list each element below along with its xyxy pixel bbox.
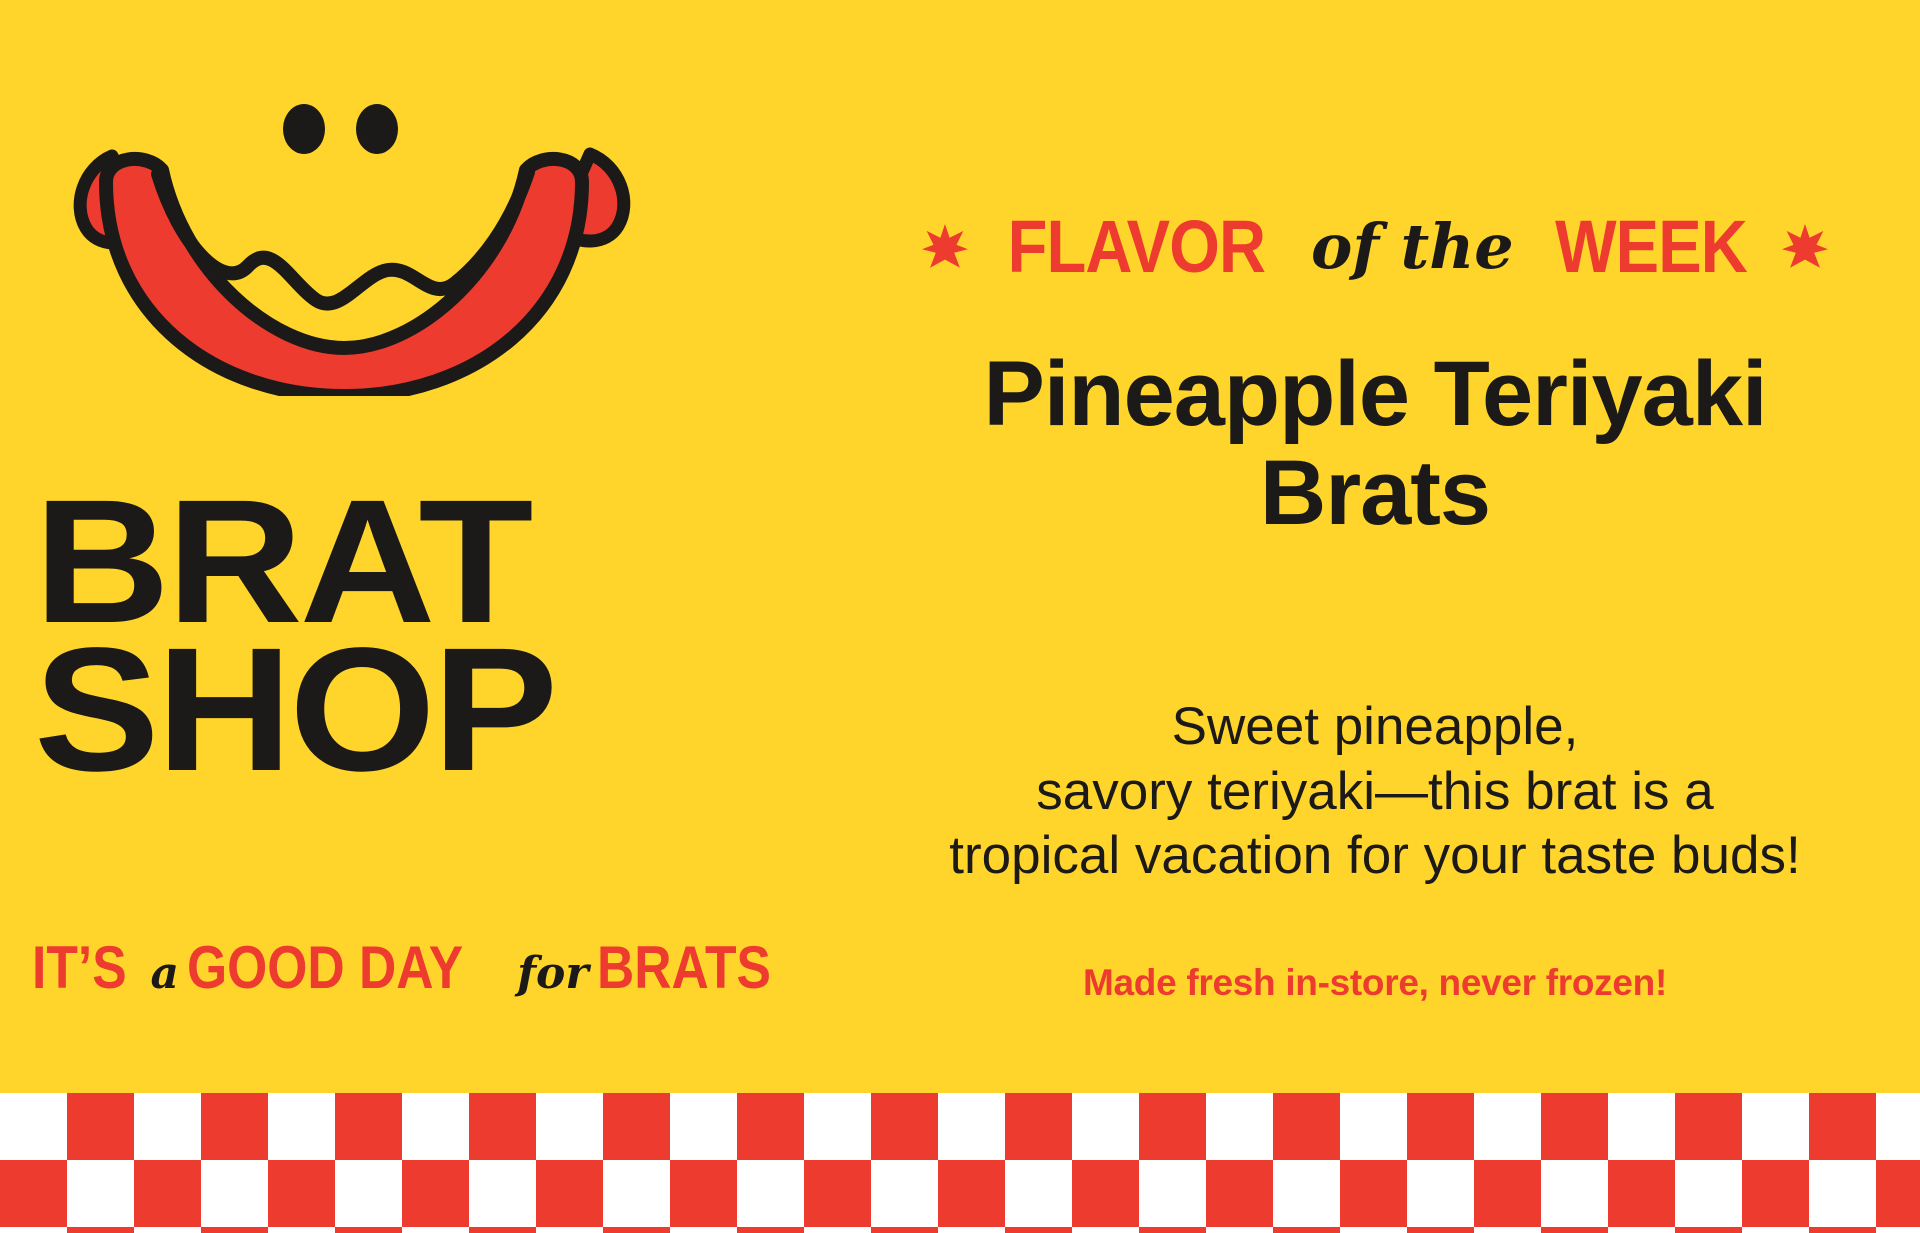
burst-star-icon-left (922, 224, 968, 270)
brand-panel: BRAT SHOP IT’S a GOOD DAY for BRATS (0, 0, 830, 1093)
brand-tagline: IT’S a GOOD DAY for BRATS (32, 938, 799, 998)
tagline-good-day: GOOD DAY (187, 938, 463, 998)
tagline-brats: BRATS (597, 938, 771, 998)
brat-shop-wordmark: BRAT SHOP (34, 490, 804, 783)
eyebrow-word-week: WEEK (1555, 210, 1747, 284)
tagline-its: IT’S (32, 938, 127, 998)
burst-star-icon-right (1782, 224, 1828, 270)
checkerboard-footer-border (0, 1093, 1920, 1233)
flavor-of-the-week-eyebrow: FLAVOR of the WEEK (830, 210, 1920, 284)
wordmark-line-shop: SHOP (34, 638, 858, 782)
eyebrow-word-of-the: of the (1305, 216, 1520, 278)
brat-shop-flavor-of-the-week-sign: BRAT SHOP IT’S a GOOD DAY for BRATS FLAV… (0, 0, 1920, 1233)
smiling-bratwurst-icon (34, 96, 654, 396)
tagline-for: for (513, 952, 592, 996)
product-title: Pineapple Teriyaki Brats (880, 345, 1870, 544)
freshness-note: Made fresh in-store, never frozen! (830, 962, 1920, 1004)
tagline-a: a (146, 952, 183, 996)
flavor-panel: FLAVOR of the WEEK Pineapple Teriyaki Br… (830, 0, 1920, 1093)
eyebrow-word-flavor: FLAVOR (1008, 210, 1266, 284)
product-description: Sweet pineapple, savory teriyaki—this br… (890, 695, 1860, 889)
